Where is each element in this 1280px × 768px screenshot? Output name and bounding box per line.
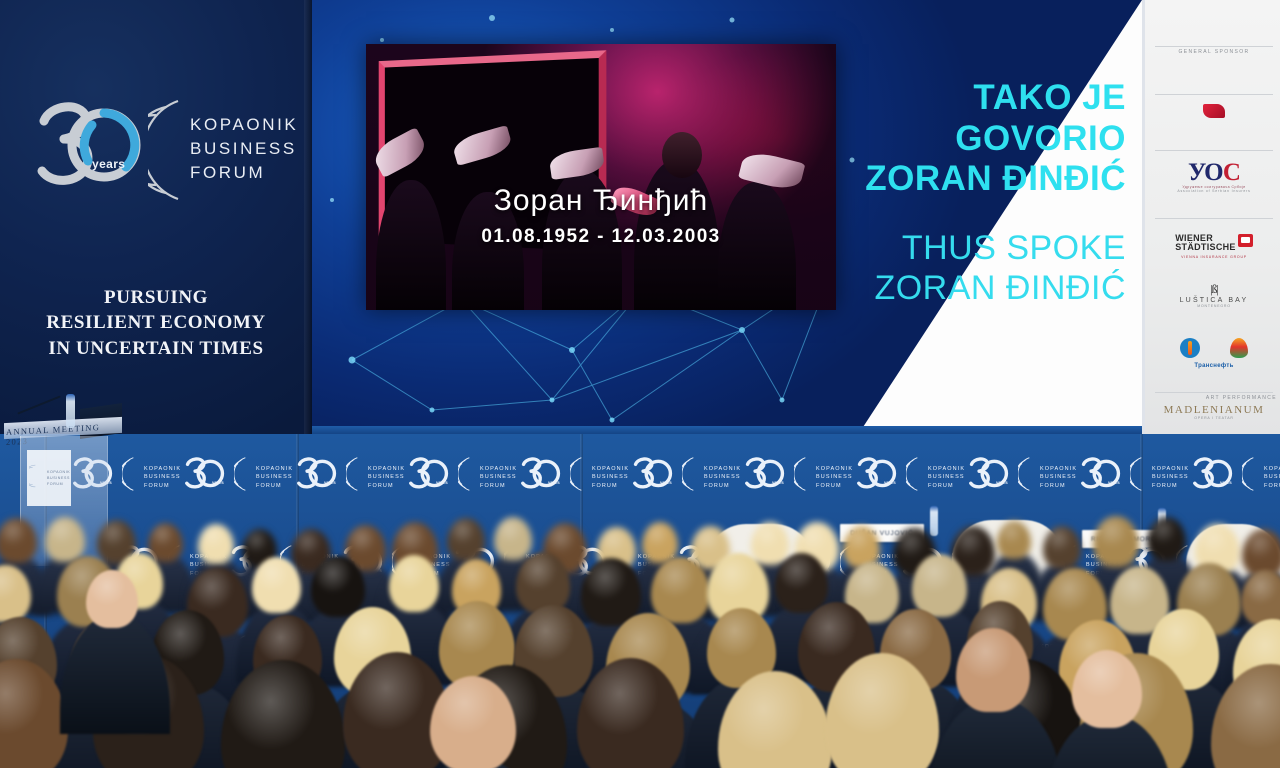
audience-head xyxy=(1093,516,1138,567)
slide-headline-block: TAKO JE GOVORIO ZORAN ĐINĐIĆ THUS SPOKE … xyxy=(706,78,1126,308)
sponsor-row-yoc: УОС Удружење осигуравача Србије Associat… xyxy=(1145,160,1280,193)
backdrop-brand-text: KOPAONIKBUSINESSFORUM xyxy=(928,465,965,490)
slide-title-sr-line-2: GOVORIO xyxy=(706,119,1126,160)
madlenianum-logo-text: MADLENIANUM xyxy=(1145,404,1280,416)
slide-title-sr-line-3: ZORAN ĐINĐIĆ xyxy=(706,159,1126,200)
conference-hall-photo: years KOPAONIK BUSINESS FORUM PURSUING R… xyxy=(0,0,1280,768)
backdrop-thirty-mark-icon xyxy=(1190,456,1236,492)
thirty-years-mark-icon xyxy=(30,99,150,194)
audience-head xyxy=(651,557,709,623)
lustica-bay-mark-icon: |ß| xyxy=(1145,282,1280,297)
slide-title-en-line-2: ZORAN ĐINĐIĆ xyxy=(706,268,1126,308)
madlenianum-sub: OPERA I TEATAR xyxy=(1145,416,1280,420)
audience-head xyxy=(311,556,365,617)
slide-title-en-line-1: THUS SPOKE xyxy=(706,228,1126,268)
backdrop-arc-icon xyxy=(122,454,142,494)
backdrop-arc-icon xyxy=(234,454,254,494)
backdrop-thirty-mark-icon xyxy=(294,456,340,492)
backdrop-brand-text: KOPAONIKBUSINESSFORUM xyxy=(592,465,629,490)
backdrop-thirty-mark-icon xyxy=(630,456,676,492)
tagline-line-2: RESILIENT ECONOMY xyxy=(0,310,312,335)
audience-head xyxy=(252,557,301,613)
podium-logo-plate: KOPAONIK BUSINESS FORUM xyxy=(27,450,71,506)
wiener-staedtische-logo-icon: WIENERSTÄDTISCHE xyxy=(1175,234,1236,253)
logo-brand-text: KOPAONIK BUSINESS FORUM xyxy=(190,113,298,185)
audience-head xyxy=(0,518,37,564)
podium-brand-line-2: BUSINESS xyxy=(47,476,70,482)
sponsor-row-lustica: |ß| LUŠTICA BAY MONTENEGRO xyxy=(1145,282,1280,308)
sponsor-row-madlenianum: MADLENIANUM OPERA I TEATAR xyxy=(1145,404,1280,420)
audience-head xyxy=(447,518,485,561)
backdrop-arc-icon xyxy=(570,454,590,494)
transneft-logo-text: Транснефть xyxy=(1145,363,1280,369)
backdrop-brand-text: KOPAONIKBUSINESSFORUM xyxy=(1264,465,1280,490)
podium-brand-line-3: FORUM xyxy=(47,482,70,488)
logo-brand-line-2: BUSINESS xyxy=(190,137,298,161)
slide-title-sr-line-1: TAKO JE xyxy=(706,78,1126,119)
sponsor-row-wiener: WIENERSTÄDTISCHE VIENNA INSURANCE GROUP xyxy=(1145,234,1280,259)
sponsor-divider xyxy=(1155,94,1273,95)
audience-seating xyxy=(0,500,1280,768)
backdrop-arc-icon xyxy=(794,454,814,494)
backdrop-arc-icon xyxy=(458,454,478,494)
backdrop-arc-icon xyxy=(906,454,926,494)
audience-head xyxy=(389,555,439,612)
backdrop-brand-text: KOPAONIKBUSINESSFORUM xyxy=(1040,465,1077,490)
audience-head xyxy=(86,570,138,628)
sponsor-caption-general: GENERAL SPONSOR xyxy=(1178,49,1249,55)
wiener-sub: VIENNA INSURANCE GROUP xyxy=(1145,255,1280,259)
kopaonik-business-forum-logo: years KOPAONIK BUSINESS FORUM xyxy=(30,95,280,205)
backdrop-thirty-mark-icon xyxy=(518,456,564,492)
sponsor-caption-art: ART PERFORMANCE xyxy=(1145,386,1280,404)
backdrop-thirty-mark-icon xyxy=(1078,456,1124,492)
wiener-line-2: STÄDTISCHE xyxy=(1175,243,1236,252)
backdrop-years-label: years xyxy=(436,480,448,485)
backdrop-years-label: years xyxy=(1108,480,1120,485)
backdrop-thirty-mark-icon xyxy=(966,456,1012,492)
podium-plate-brand: KOPAONIK BUSINESS FORUM xyxy=(47,470,70,487)
backdrop-years-label: years xyxy=(548,480,560,485)
backdrop-brand-text: KOPAONIKBUSINESSFORUM xyxy=(480,465,517,490)
sponsor-row-general: GENERAL SPONSOR xyxy=(1145,40,1280,58)
audience-head xyxy=(148,523,183,562)
backdrop-arc-icon xyxy=(1018,454,1038,494)
backdrop-thirty-mark-icon xyxy=(742,456,788,492)
backdrop-thirty-mark-icon xyxy=(406,456,452,492)
podium-brand-line-1: KOPAONIK xyxy=(47,470,70,476)
forum-tagline: PURSUING RESILIENT ECONOMY IN UNCERTAIN … xyxy=(0,285,312,361)
wiener-mark-icon xyxy=(1238,234,1253,247)
left-navy-wall: years KOPAONIK BUSINESS FORUM PURSUING R… xyxy=(0,0,312,440)
backdrop-arc-icon xyxy=(1242,454,1262,494)
slide-title-spacer xyxy=(706,200,1126,228)
lustica-bay-logo-text: LUŠTICA BAY xyxy=(1145,297,1280,304)
backdrop-years-label: years xyxy=(884,480,896,485)
backdrop-arc-icon xyxy=(682,454,702,494)
backdrop-years-label: years xyxy=(772,480,784,485)
backdrop-brand-text: KOPAONIKBUSINESSFORUM xyxy=(816,465,853,490)
audience-head xyxy=(45,517,85,562)
podium-water-bottle xyxy=(66,394,75,428)
logo-brand-line-3: FORUM xyxy=(190,161,298,185)
audience-head xyxy=(997,521,1031,559)
audience-head xyxy=(1147,517,1186,561)
sponsor-row-redmark xyxy=(1145,104,1280,123)
backdrop-brand-text: KOPAONIKBUSINESSFORUM xyxy=(368,465,405,490)
sponsor-row-transneft: Транснефть xyxy=(1145,338,1280,369)
tagline-line-3: IN UNCERTAIN TIMES xyxy=(0,336,312,361)
uos-logo-icon: УОС xyxy=(1145,160,1280,185)
uos-sub-english: Association of Serbian Insurers xyxy=(1145,189,1280,193)
backdrop-arc-icon xyxy=(1130,454,1150,494)
led-presentation-screen: Зоран Ђинђић 01.08.1952 - 12.03.2003 TAK… xyxy=(312,0,1142,432)
sponsor-divider xyxy=(1155,150,1273,151)
backdrop-brand-text: KOPAONIKBUSINESSFORUM xyxy=(1152,465,1189,490)
backdrop-years-label: years xyxy=(324,480,336,485)
backdrop-years-label: years xyxy=(996,480,1008,485)
sponsor-divider xyxy=(1155,218,1273,219)
backdrop-years-label: years xyxy=(660,480,672,485)
backdrop-brand-text: KOPAONIKBUSINESSFORUM xyxy=(704,465,741,490)
audience-head xyxy=(1043,526,1082,569)
podium-microphone-icon xyxy=(17,395,60,414)
audience-head xyxy=(751,522,789,564)
backdrop-thirty-mark-icon xyxy=(182,456,228,492)
logo-years-label: years xyxy=(92,157,125,171)
podium-arc-icon xyxy=(29,458,49,494)
backdrop-brand-text: KOPAONIKBUSINESSFORUM xyxy=(144,465,181,490)
transneft-mark-icon xyxy=(1180,338,1200,358)
audience-head xyxy=(516,552,571,614)
lustica-sub: MONTENEGRO xyxy=(1145,304,1280,308)
backdrop-thirty-mark-icon xyxy=(854,456,900,492)
sponsor-board: GENERAL SPONSOR УОС Удружење осигуравача… xyxy=(1142,0,1280,434)
art-performance-caption: ART PERFORMANCE xyxy=(1206,395,1277,401)
backdrop-years-label: years xyxy=(1220,480,1232,485)
flame-logo-icon xyxy=(1230,338,1248,358)
backdrop-brand-text: KOPAONIKBUSINESSFORUM xyxy=(256,465,293,490)
red-mark-logo-icon xyxy=(1203,104,1225,118)
audience-head xyxy=(198,524,234,564)
audience-head xyxy=(494,517,532,560)
backdrop-arc-icon xyxy=(346,454,366,494)
tagline-line-1: PURSUING xyxy=(0,285,312,310)
backdrop-years-label: years xyxy=(212,480,224,485)
logo-brand-line-1: KOPAONIK xyxy=(190,113,298,137)
video-figure-head xyxy=(662,132,702,178)
